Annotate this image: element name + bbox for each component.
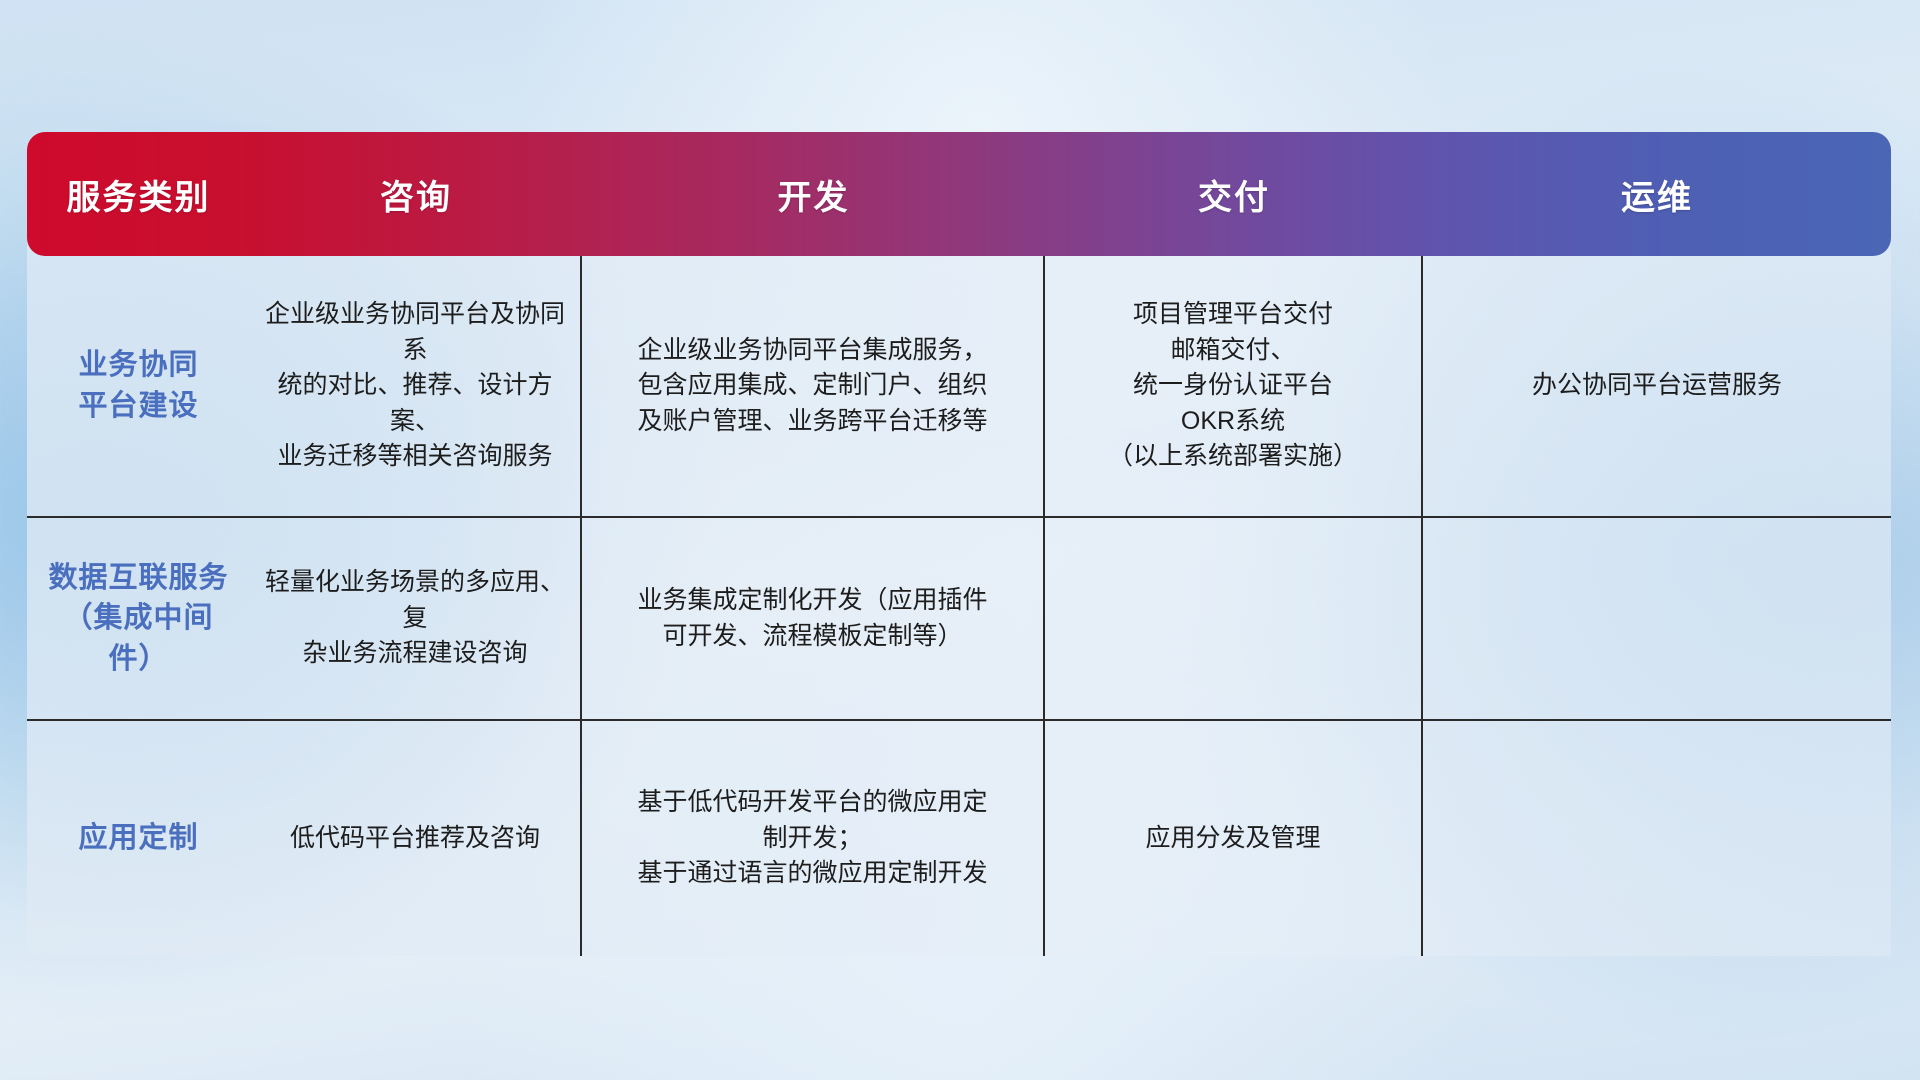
cell-development: 企业级业务协同平台集成服务， 包含应用集成、定制门户、组织 及账户管理、业务跨平…	[582, 256, 1045, 516]
header-cell-service-category: 服务类别	[27, 132, 250, 256]
cell-consulting: 企业级业务协同平台及协同系 统的对比、推荐、设计方案、 业务迁移等相关咨询服务	[250, 256, 582, 516]
cell-operations	[1423, 721, 1891, 956]
table-row: 业务协同 平台建设 企业级业务协同平台及协同系 统的对比、推荐、设计方案、 业务…	[27, 256, 1891, 518]
cell-delivery	[1045, 518, 1423, 719]
table-row: 应用定制 低代码平台推荐及咨询 基于低代码开发平台的微应用定 制开发； 基于通过…	[27, 721, 1891, 956]
header-cell-development: 开发	[582, 132, 1045, 256]
cell-operations: 办公协同平台运营服务	[1423, 256, 1891, 516]
cell-development: 基于低代码开发平台的微应用定 制开发； 基于通过语言的微应用定制开发	[582, 721, 1045, 956]
row-category-label: 业务协同 平台建设	[27, 256, 250, 516]
cell-delivery: 应用分发及管理	[1045, 721, 1423, 956]
row-category-label: 应用定制	[27, 721, 250, 956]
header-cell-delivery: 交付	[1045, 132, 1423, 256]
table-body: 业务协同 平台建设 企业级业务协同平台及协同系 统的对比、推荐、设计方案、 业务…	[27, 256, 1891, 956]
table-header-row: 服务类别 咨询 开发 交付 运维	[27, 132, 1891, 256]
cell-delivery: 项目管理平台交付 邮箱交付、 统一身份认证平台 OKR系统 （以上系统部署实施）	[1045, 256, 1423, 516]
cell-consulting: 低代码平台推荐及咨询	[250, 721, 582, 956]
header-cell-operations: 运维	[1423, 132, 1891, 256]
cell-consulting: 轻量化业务场景的多应用、复 杂业务流程建设咨询	[250, 518, 582, 719]
slide-canvas: 服务类别 咨询 开发 交付 运维 业务协同 平台建设 企业级业务协同平台及协同系…	[0, 0, 1920, 1080]
cell-operations	[1423, 518, 1891, 719]
cell-development: 业务集成定制化开发（应用插件 可开发、流程模板定制等）	[582, 518, 1045, 719]
row-category-label: 数据互联服务 （集成中间件）	[27, 518, 250, 719]
table-row: 数据互联服务 （集成中间件） 轻量化业务场景的多应用、复 杂业务流程建设咨询 业…	[27, 518, 1891, 721]
header-cell-consulting: 咨询	[250, 132, 582, 256]
